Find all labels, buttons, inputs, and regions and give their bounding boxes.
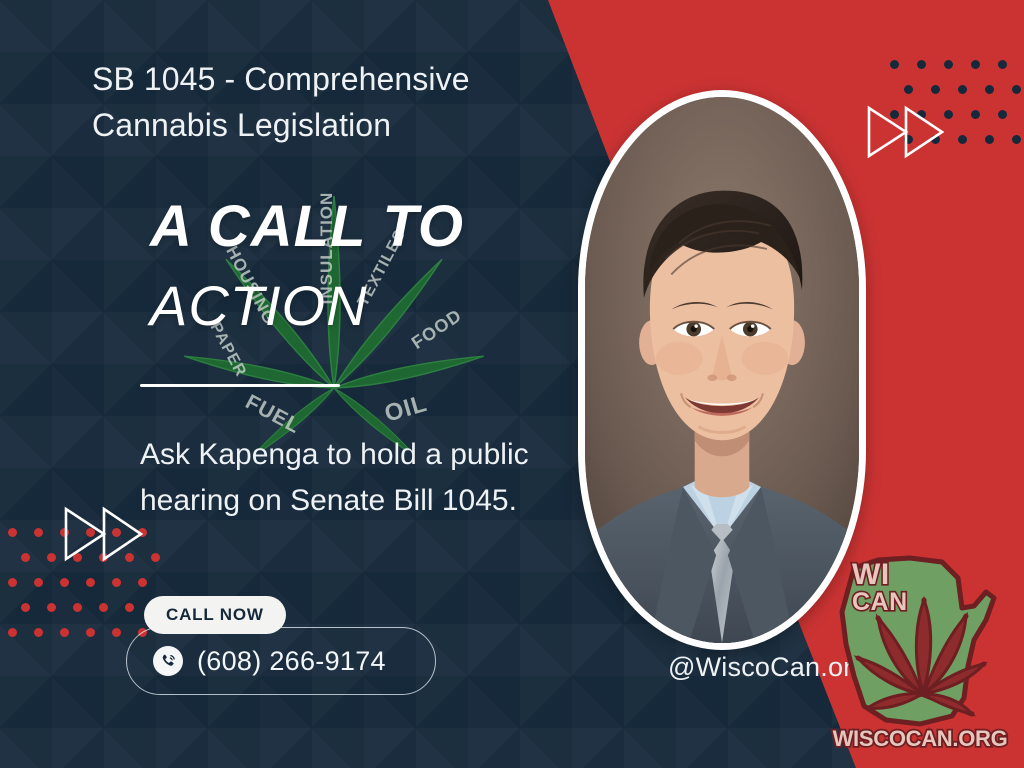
decorative-dot	[958, 135, 967, 144]
body-copy: Ask Kapenga to hold a public hearing on …	[140, 432, 540, 523]
phone-number-text: (608) 266-9174	[197, 646, 386, 677]
portrait-photo	[578, 90, 866, 650]
decorative-dot	[944, 110, 953, 119]
badge-line-can: CAN	[852, 588, 908, 616]
decorative-dot	[904, 85, 913, 94]
decorative-dot	[151, 553, 160, 562]
decorative-dot	[8, 578, 17, 587]
decorative-dot	[1012, 85, 1021, 94]
decorative-dot	[971, 110, 980, 119]
decorative-dot	[60, 578, 69, 587]
decorative-dot	[917, 60, 926, 69]
decorative-dot	[931, 85, 940, 94]
decorative-dot	[34, 578, 43, 587]
decorative-dot	[86, 578, 95, 587]
cta-heading-line2: ACTION	[150, 278, 570, 334]
decorative-dot	[1012, 135, 1021, 144]
decorative-dot	[944, 60, 953, 69]
double-arrow-icon-bottom-left	[63, 505, 143, 563]
decorative-dot	[985, 85, 994, 94]
decorative-dot	[34, 628, 43, 637]
decorative-dot	[60, 628, 69, 637]
decorative-dot	[21, 553, 30, 562]
decorative-dot	[47, 603, 56, 612]
decorative-dot	[8, 628, 17, 637]
decorative-dot	[34, 528, 43, 537]
decorative-dot	[958, 85, 967, 94]
decorative-dot	[86, 628, 95, 637]
leaf-word-oil: OIL	[382, 390, 431, 428]
double-arrow-icon-top-right	[866, 104, 944, 160]
decorative-dot	[8, 528, 17, 537]
decorative-dot	[998, 60, 1007, 69]
call-button[interactable]: (608) 266-9174	[126, 627, 436, 695]
decorative-dot	[73, 603, 82, 612]
decorative-dot	[47, 553, 56, 562]
decorative-dot	[112, 578, 121, 587]
badge-line-wi: WI	[852, 558, 890, 591]
poster-canvas: INSULATION TEXTILES HOUSING FOOD PAPER F…	[0, 0, 1024, 768]
phone-icon	[153, 646, 183, 676]
decorative-dot	[998, 110, 1007, 119]
cta-heading-line1: A CALL TO	[150, 198, 570, 256]
decorative-dot	[112, 628, 121, 637]
divider-rule	[140, 384, 340, 387]
decorative-dot	[971, 60, 980, 69]
page-title: SB 1045 - Comprehensive Cannabis Legisla…	[92, 56, 562, 149]
decorative-dot	[99, 603, 108, 612]
decorative-dot	[985, 135, 994, 144]
decorative-dot	[138, 578, 147, 587]
decorative-dot	[890, 60, 899, 69]
call-now-badge[interactable]: CALL NOW	[144, 596, 286, 634]
decorative-dot	[125, 603, 134, 612]
decorative-dot	[21, 603, 30, 612]
logo-wordmark: WISCOCAN.ORG	[833, 726, 1008, 751]
wiscocan-logo[interactable]: WI CAN WISCOCAN.ORG	[824, 548, 1016, 760]
